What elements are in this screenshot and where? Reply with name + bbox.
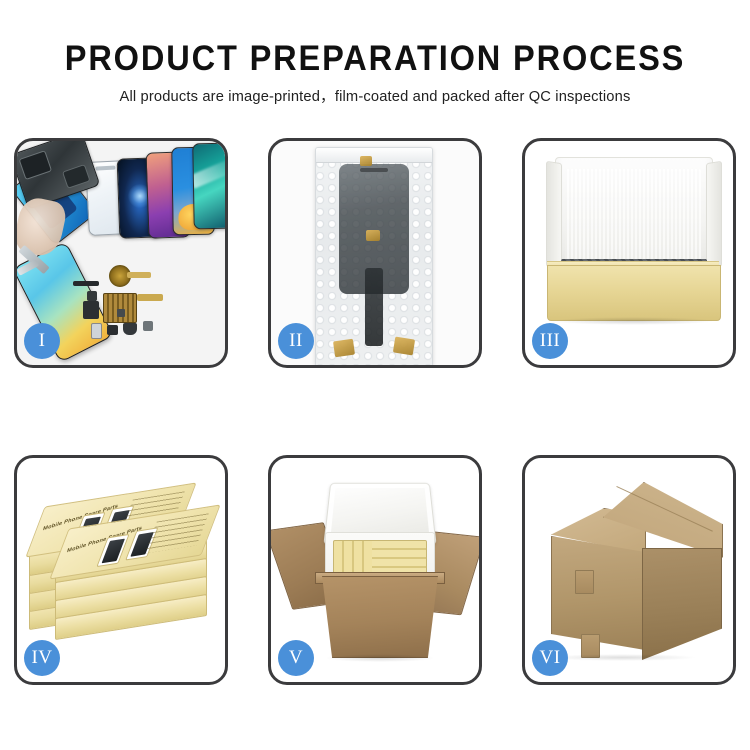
- drop-shadow: [547, 654, 697, 661]
- phone-display-teal-icon: [192, 143, 225, 230]
- process-step-card-4[interactable]: Mobile Phone Spare Parts Mobile Phone Sp…: [14, 455, 228, 685]
- carton-front-face-icon: [551, 536, 645, 650]
- small-chip-part-icon: [117, 309, 125, 317]
- carton-body-icon: [317, 576, 443, 658]
- foam-liner-icon: [565, 169, 701, 267]
- flex-cable-part-icon: [137, 294, 163, 301]
- process-steps-grid: I II: [14, 138, 736, 685]
- bag-seal-icon: [316, 148, 432, 163]
- camera-module-part-icon: [107, 325, 118, 335]
- page-subtitle: All products are image-printed，film-coat…: [8, 87, 743, 107]
- flex-cable-icon: [365, 268, 383, 346]
- carton-tape-icon: [575, 570, 594, 594]
- step-badge-6: VI: [532, 640, 568, 676]
- process-step-card-2[interactable]: II: [268, 138, 482, 368]
- step-badge-4: IV: [24, 640, 60, 676]
- vibrator-part-icon: [123, 323, 137, 335]
- step-badge-3: III: [532, 323, 568, 359]
- earpiece-part-icon: [73, 281, 99, 286]
- carton-side-face-icon: [642, 548, 722, 660]
- product-preparation-process-page: PRODUCT PREPARATION PROCESS All products…: [0, 0, 750, 750]
- page-header: PRODUCT PREPARATION PROCESS All products…: [0, 38, 750, 107]
- page-title: PRODUCT PREPARATION PROCESS: [26, 38, 724, 80]
- yellow-box-body-icon: [547, 265, 721, 321]
- gold-connector-icon: [393, 337, 415, 356]
- gold-connector-icon: [333, 339, 355, 358]
- step-badge-2: II: [278, 323, 314, 359]
- process-step-card-6[interactable]: VI: [522, 455, 736, 685]
- process-step-card-1[interactable]: I: [14, 138, 228, 368]
- gold-connector-icon: [366, 230, 380, 241]
- step-badge-1: I: [24, 323, 60, 359]
- process-step-card-5[interactable]: V: [268, 455, 482, 685]
- bubble-wrap-bag-icon: [315, 147, 433, 365]
- flex-cable-part-icon: [83, 301, 99, 319]
- drop-shadow: [325, 654, 435, 662]
- step-badge-5: V: [278, 640, 314, 676]
- connector-part-icon: [87, 291, 97, 301]
- process-step-card-3[interactable]: III: [522, 138, 736, 368]
- box-spec-lines: [145, 513, 209, 553]
- gold-connector-icon: [360, 156, 372, 166]
- screw-bracket-part-icon: [143, 321, 153, 331]
- sealed-carton: [551, 482, 721, 656]
- drop-shadow: [551, 317, 715, 325]
- box-stack: Mobile Phone Spare Parts Mobile Phone Sp…: [25, 478, 221, 668]
- chip-board-part-icon: [103, 293, 137, 323]
- sim-tray-part-icon: [91, 323, 102, 339]
- flex-cable-part-icon: [127, 272, 151, 278]
